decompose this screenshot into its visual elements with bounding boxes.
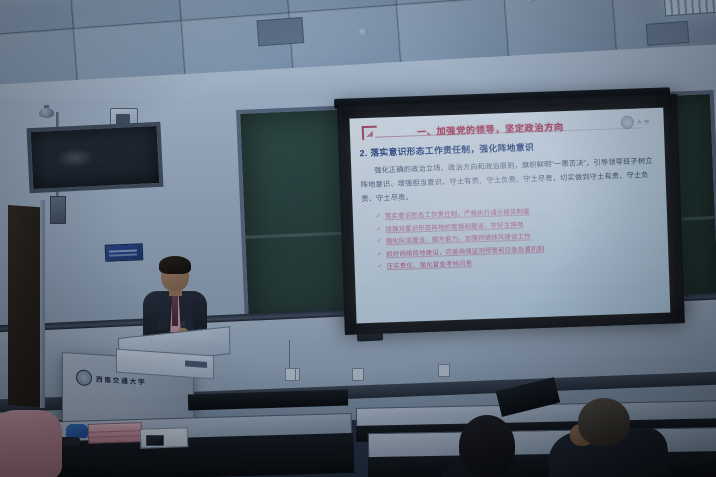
mobile-phone [146,435,164,446]
hanging-cable [289,340,290,368]
door-frame [40,200,45,408]
podium-logo-text: 西南交通大学 [96,373,146,386]
presentation-slide: 一、加强党的领导，坚定政治方向 大学 2. 落实意识形态工作责任制，强化阵地意识… [349,108,670,324]
lecture-hall-photo: 一、加强党的领导，坚定政治方向 大学 2. 落实意识形态工作责任制，强化阵地意识… [0,0,716,477]
presenter-hair [159,256,191,274]
small-notice-board [26,122,163,193]
audience-member-back-head [578,398,630,446]
blue-wall-sign [105,243,144,262]
wall-outlet [438,364,450,377]
projection-screen: 一、加强党的领导，坚定政治方向 大学 2. 落实意识形态工作责任制，强化阵地意识… [337,94,685,335]
junction-box [50,196,66,224]
slide-surface: 一、加强党的领导，坚定政治方向 大学 2. 落实意识形态工作责任制，强化阵地意识… [349,108,670,324]
pink-coat [0,410,62,477]
presenter-tie [172,296,178,326]
stack-of-books [88,422,143,444]
ceiling-vent [256,17,304,46]
university-emblem-icon [76,369,92,386]
corner-bracket-icon [362,126,377,141]
dome-security-camera-icon [39,105,54,118]
slide-title: 一、加强党的领导，坚定政治方向 [417,119,564,138]
audience-member-front-head [459,415,515,477]
slide-logo: 大学 [621,115,651,129]
slide-logo-text: 大学 [637,118,651,126]
slide-body-text: 强化正确的政治立场、政治方向和政治原则，旗帜鲜明“一票否决”，引导领导班子树立阵… [360,154,657,206]
blue-bag [66,424,88,438]
slide-bullet-list: 落实意识形态工作责任制，严格执行请示报告制度 加强对意识形态阵地的管理和建设，守… [362,202,660,275]
side-door[interactable] [8,205,43,407]
ceiling-vent [646,21,689,46]
wall-outlet [352,368,364,381]
university-emblem-icon [621,116,634,129]
